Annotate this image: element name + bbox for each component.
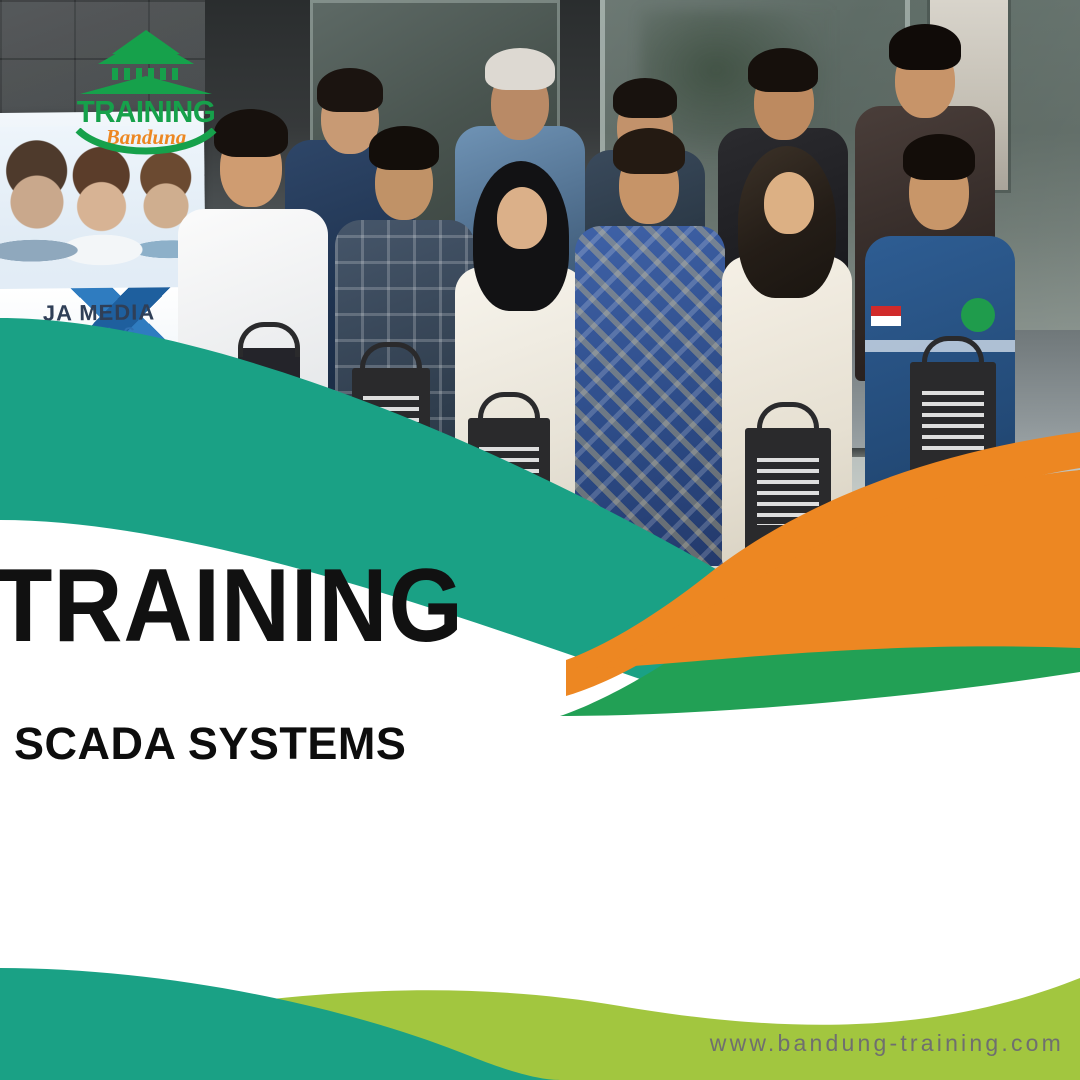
- lime-wave-bottom: [0, 978, 1080, 1080]
- white-below-right: [560, 672, 1080, 1080]
- page-subtitle: SCADA SYSTEMS: [14, 718, 406, 770]
- flag-patch: [871, 306, 901, 326]
- person-hair: [613, 128, 685, 174]
- person-hair: [903, 134, 975, 180]
- website-url[interactable]: www.bandung-training.com: [710, 1030, 1064, 1057]
- person-head: [764, 172, 814, 234]
- logo-arc-underline: [72, 128, 220, 162]
- pagoda-temple-icon: [72, 28, 220, 98]
- goodie-bag: [468, 418, 550, 550]
- goodie-bag: [352, 368, 430, 496]
- teal-wave-bottom: [0, 968, 560, 1080]
- page-title: TRAINING: [0, 554, 464, 658]
- poster-canvas: JA MEDIA T N G: [0, 0, 1080, 1080]
- person-hair: [214, 109, 288, 157]
- person-hair: [485, 48, 555, 90]
- goodie-bag: [910, 362, 996, 494]
- person-body: [575, 226, 725, 566]
- banner-text-primary: JA MEDIA: [43, 299, 156, 326]
- bag-label: [363, 396, 419, 457]
- person-head: [497, 187, 547, 249]
- person-hair: [369, 126, 439, 170]
- banner-text-secondary: T N G: [79, 325, 139, 343]
- bandung-training-logo[interactable]: TRAINING Bandung: [72, 28, 220, 158]
- banner-photo-shirts: [0, 207, 205, 279]
- person-front-1: [178, 105, 328, 525]
- uniform-logo-patch: [961, 298, 995, 332]
- goodie-bag: [745, 428, 831, 566]
- bag-label: [922, 391, 984, 454]
- person-hair: [748, 48, 818, 92]
- bag-label: [757, 458, 819, 524]
- person-hair: [889, 24, 961, 70]
- goodie-bag: [238, 348, 300, 458]
- person-front-4: [575, 122, 725, 562]
- person-hair: [613, 78, 677, 118]
- bag-label: [479, 447, 538, 510]
